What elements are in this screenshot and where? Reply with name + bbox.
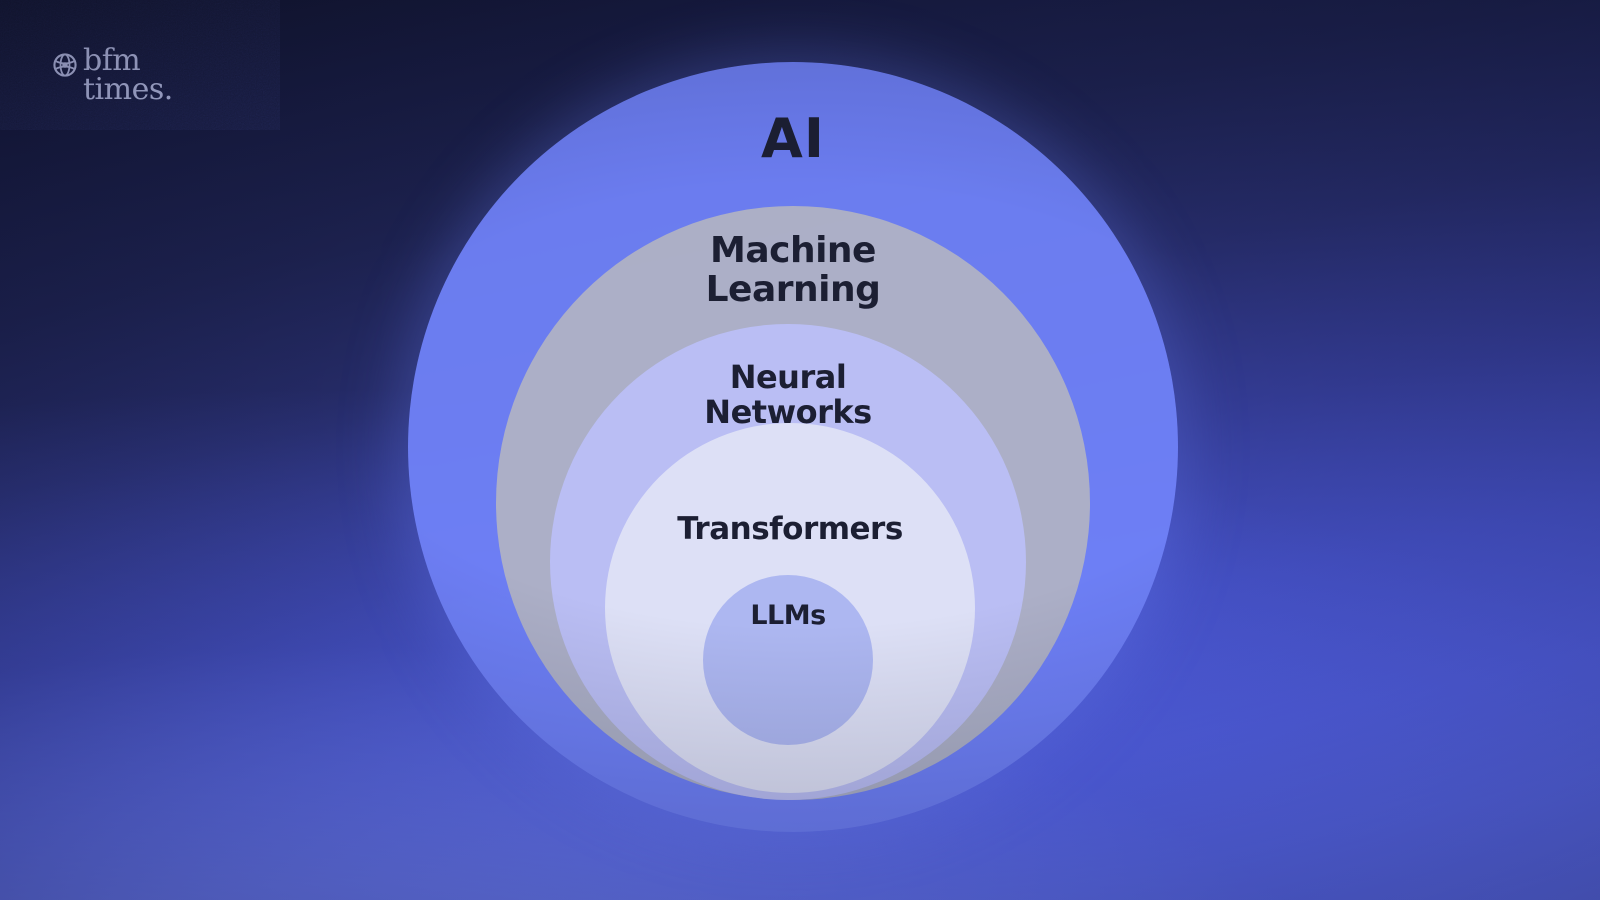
circle-label-llms: LLMs xyxy=(750,575,825,630)
circle-label-neural-networks: Neural Networks xyxy=(704,324,871,429)
circle-label-ai: AI xyxy=(761,62,825,168)
globe-network-icon xyxy=(52,52,78,78)
brand-wordmark: bfm times. xyxy=(83,46,173,105)
circle-label-machine-learning: Machine Learning xyxy=(706,206,881,310)
brand-logo[interactable]: bfm times. xyxy=(52,46,173,105)
circle-label-transformers: Transformers xyxy=(677,423,903,546)
nested-circles-diagram: AI Machine Learning Neural Networks Tran… xyxy=(0,0,1600,900)
infographic-canvas: AI Machine Learning Neural Networks Tran… xyxy=(0,0,1600,900)
circle-llms[interactable]: LLMs xyxy=(703,575,873,745)
